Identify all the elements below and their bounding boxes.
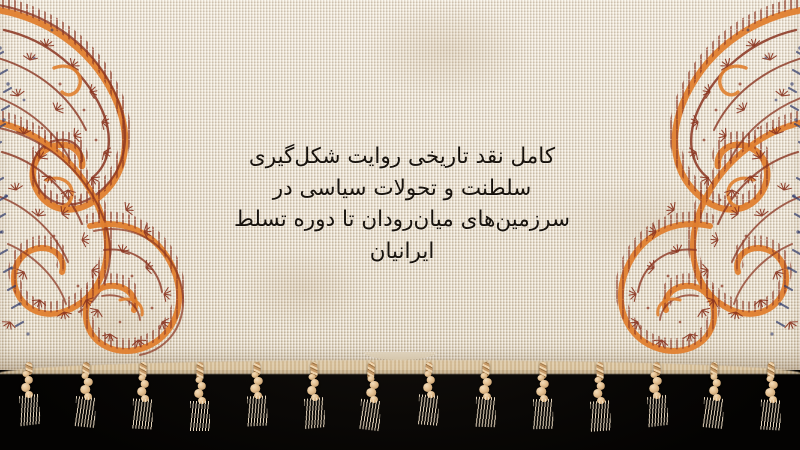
slide-title: کامل نقد تاریخی روایت شکل‌گیری سلطنت و ت… [196, 141, 608, 267]
tassel [356, 362, 386, 442]
tassel-fringe [0, 362, 800, 450]
tassel [756, 362, 786, 442]
tassel-threads [74, 396, 95, 428]
title-line-2: سلطنت و تحولات سیاسی در [196, 173, 608, 205]
tassel-threads [247, 395, 268, 426]
tassel [128, 362, 158, 442]
tassel [185, 362, 215, 442]
tassel [471, 362, 501, 442]
tassel [699, 362, 729, 442]
title-line-3: سرزمین‌های میان‌رودان تا دوره تسلط [196, 204, 608, 236]
tassel [414, 362, 444, 442]
tassel-threads [418, 394, 439, 425]
tassel [299, 362, 329, 442]
tassel-threads [533, 398, 553, 428]
tassel-threads [19, 394, 40, 426]
tassel [242, 362, 272, 442]
tassel-threads [360, 399, 381, 431]
tassel-threads [190, 401, 210, 431]
tassel-threads [761, 399, 782, 430]
tassel-threads [647, 395, 668, 427]
tassel-threads [590, 400, 611, 431]
title-line-4: ایرانیان [196, 236, 608, 268]
tassel-threads [304, 397, 325, 429]
tassel-threads [703, 397, 724, 429]
title-line-1: کامل نقد تاریخی روایت شکل‌گیری [196, 141, 608, 173]
tassel [585, 362, 615, 442]
tassel-threads [475, 396, 495, 426]
tassel [14, 362, 44, 442]
slide-canvas: کامل نقد تاریخی روایت شکل‌گیری سلطنت و ت… [0, 0, 800, 450]
tassel [71, 362, 101, 442]
tassel [642, 362, 672, 442]
tassel [528, 362, 558, 442]
tassel-threads [132, 398, 153, 429]
